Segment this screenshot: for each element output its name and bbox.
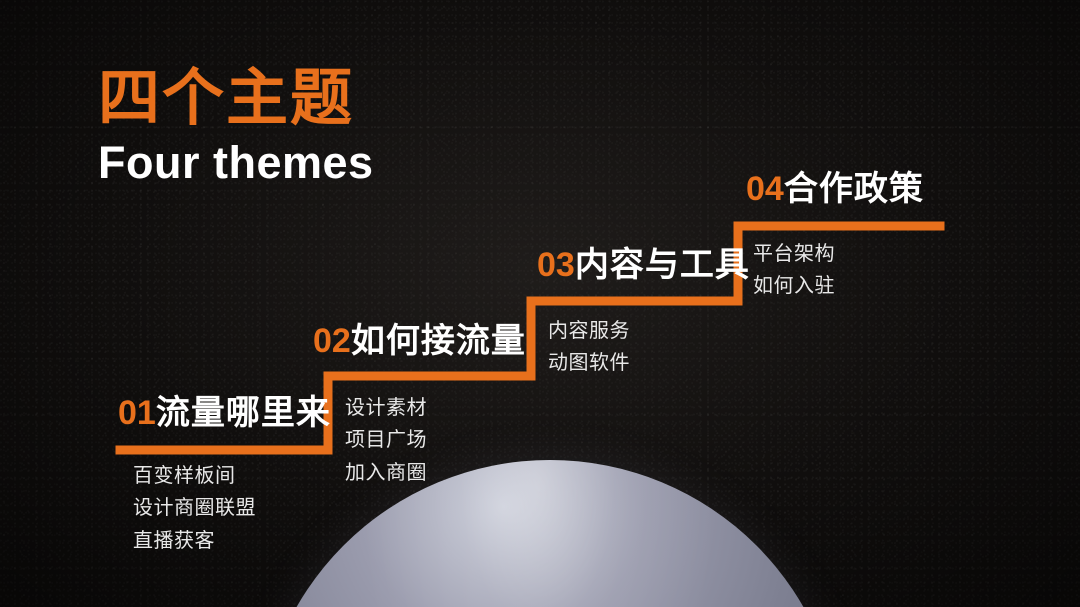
slide-canvas: 四个主题 Four themes 01流量哪里来 百变样板间 设计商圈联盟 直播…	[0, 0, 1080, 607]
step-01-heading: 01流量哪里来	[118, 396, 331, 430]
step-03-title: 内容与工具	[575, 246, 750, 284]
step-02-number: 02	[313, 322, 351, 360]
step-04-heading: 04合作政策	[746, 172, 924, 206]
step-04-item-list: 平台架构 如何入驻	[753, 238, 835, 303]
list-item: 设计商圈联盟	[133, 492, 256, 524]
step-04-title: 合作政策	[784, 170, 924, 208]
list-item: 动图软件	[548, 347, 630, 379]
list-item: 设计素材	[345, 392, 427, 424]
page-title: 四个主题 Four themes	[98, 66, 374, 188]
list-item: 内容服务	[548, 315, 630, 347]
list-item: 加入商圈	[345, 457, 427, 489]
step-01-item-list: 百变样板间 设计商圈联盟 直播获客	[133, 460, 256, 557]
list-item: 直播获客	[133, 525, 256, 557]
list-item: 如何入驻	[753, 270, 835, 302]
title-english: Four themes	[98, 138, 374, 188]
step-03-item-list: 内容服务 动图软件	[548, 315, 630, 380]
step-02-item-list: 设计素材 项目广场 加入商圈	[345, 392, 427, 489]
list-item: 项目广场	[345, 424, 427, 456]
list-item: 平台架构	[753, 238, 835, 270]
title-chinese: 四个主题	[98, 66, 374, 132]
step-04-number: 04	[746, 170, 784, 208]
step-03-heading: 03内容与工具	[537, 248, 750, 282]
step-03-number: 03	[537, 246, 575, 284]
step-02-title: 如何接流量	[351, 322, 526, 360]
list-item: 百变样板间	[133, 460, 256, 492]
step-01-number: 01	[118, 394, 156, 432]
step-02-heading: 02如何接流量	[313, 324, 526, 358]
step-01-title: 流量哪里来	[156, 394, 331, 432]
